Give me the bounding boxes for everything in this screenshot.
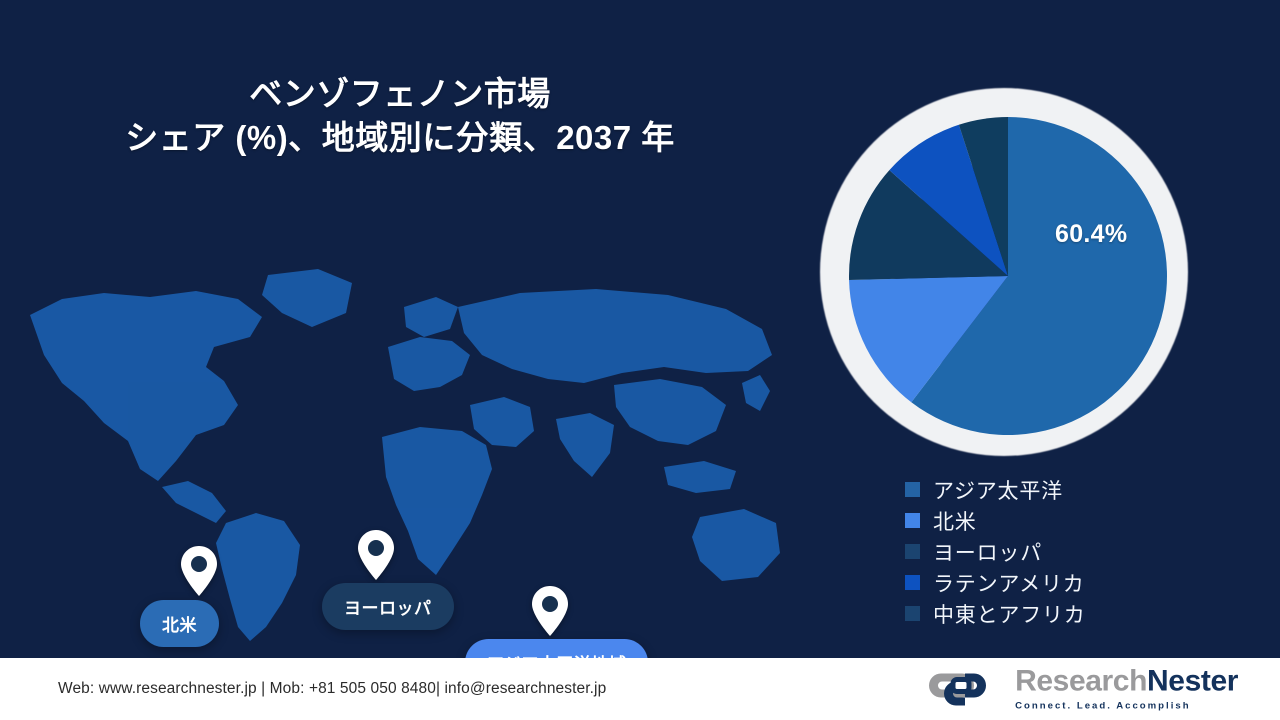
map-pin-icon-asia-pacific — [530, 585, 570, 637]
legend-swatch-icon-north-america — [905, 513, 920, 528]
footer-contact-text: Web: www.researchnester.jp | Mob: +81 50… — [58, 680, 606, 698]
legend-item-latin-america[interactable]: ラテンアメリカ — [905, 567, 1245, 598]
interlocking-links-logo-icon — [927, 669, 1003, 709]
footer-bar: Web: www.researchnester.jp | Mob: +81 50… — [0, 658, 1280, 720]
page-title-line-1: ベンゾフェノン市場 — [0, 72, 800, 116]
legend-item-europe[interactable]: ヨーロッパ — [905, 536, 1245, 567]
map-label-north-america[interactable]: 北米 — [140, 600, 219, 647]
legend-item-north-america[interactable]: 北米 — [905, 505, 1245, 536]
legend-item-middle-east-africa[interactable]: 中東とアフリカ — [905, 598, 1245, 629]
pie-chart-panel: 60.4% — [800, 60, 1220, 480]
pie-chart-graphic — [848, 116, 1168, 436]
map-pin-icon-europe — [356, 529, 396, 581]
legend-label-north-america: 北米 — [933, 506, 977, 536]
map-pin-icon-north-america — [179, 545, 219, 597]
legend-swatch-icon-asia-pacific — [905, 482, 920, 497]
legend-item-asia-pacific[interactable]: アジア太平洋 — [905, 474, 1245, 505]
logo-word-nester: Nester — [1147, 665, 1238, 698]
page-title-line-2: シェア (%)、地域別に分類、2037 年 — [0, 116, 800, 160]
legend-label-middle-east-africa: 中東とアフリカ — [933, 599, 1086, 629]
legend-label-asia-pacific: アジア太平洋 — [933, 475, 1063, 505]
brand-logo[interactable]: ResearchNester Connect. Lead. Accomplish — [927, 667, 1238, 712]
world-map-panel: 北米 ヨーロッパ アジア太平洋地域 ラテンアメリカ 中東とアフリカ — [0, 255, 800, 645]
legend-swatch-icon-middle-east-africa — [905, 606, 920, 621]
legend-swatch-icon-latin-america — [905, 575, 920, 590]
logo-tagline: Connect. Lead. Accomplish — [1015, 701, 1238, 712]
map-label-europe[interactable]: ヨーロッパ — [322, 583, 454, 630]
legend-label-europe: ヨーロッパ — [933, 537, 1042, 567]
logo-wordmark: ResearchNester — [1015, 667, 1238, 697]
logo-text-block: ResearchNester Connect. Lead. Accomplish — [1015, 667, 1238, 712]
pie-slice-value-label: 60.4% — [1055, 220, 1127, 249]
legend-label-latin-america: ラテンアメリカ — [933, 568, 1085, 598]
logo-word-research: Research — [1015, 665, 1147, 698]
chart-legend: アジア太平洋 北米 ヨーロッパ ラテンアメリカ 中東とアフリカ — [905, 474, 1245, 629]
page-title: ベンゾフェノン市場 シェア (%)、地域別に分類、2037 年 — [0, 72, 800, 159]
legend-swatch-icon-europe — [905, 544, 920, 559]
